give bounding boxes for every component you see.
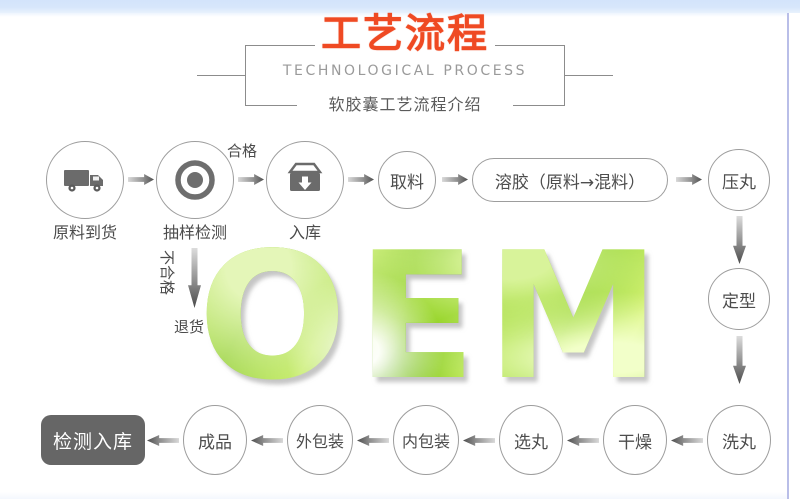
process-flow-infographic: 工艺流程 TECHNOLOGICAL PROCESS 软胶囊工艺流程介绍 OEM: [0, 0, 800, 499]
arrow-outer-packaging-to-finished: [251, 435, 283, 446]
page-title-english: TECHNOLOGICAL PROCESS: [245, 63, 565, 79]
truck-icon: [63, 166, 107, 194]
arrow-finished-to-inspection: [147, 435, 179, 446]
node-pellet-washing[interactable]: 洗丸: [707, 405, 771, 475]
node-material-pickup[interactable]: 取料: [378, 151, 436, 209]
arrow-drying-to-sorting: [567, 435, 599, 446]
arrow-inner-to-outer-packaging: [357, 435, 389, 446]
arrow-gel-to-pressing: [676, 174, 702, 185]
node-outer-packaging[interactable]: 外包装: [287, 405, 353, 475]
node-pellet-pressing[interactable]: 压丸: [708, 149, 770, 211]
node-warehouse-in[interactable]: [266, 141, 344, 219]
label-drying: 干燥: [618, 428, 652, 453]
page-title: 工艺流程: [245, 12, 565, 56]
label-inspection-warehouse: 检测入库: [53, 427, 133, 454]
arrow-warehouse-to-pickup: [348, 174, 374, 185]
label-inner-packaging: 内包装: [402, 428, 450, 452]
label-branch-pass: 合格: [218, 140, 266, 161]
label-pellet-sorting: 选丸: [514, 428, 548, 453]
arrow-pickup-to-gel: [442, 174, 468, 185]
node-inspection-warehouse[interactable]: 检测入库: [41, 415, 145, 465]
label-pellet-pressing: 压丸: [722, 168, 756, 193]
label-warehouse-in: 入库: [271, 219, 339, 243]
label-gel-melting: 溶胶（原料→混料）: [495, 168, 645, 193]
arrow-washing-to-drying: [671, 435, 703, 446]
label-branch-fail: 不合格: [157, 250, 178, 295]
node-shaping[interactable]: 定型: [708, 268, 770, 330]
label-material-pickup: 取料: [390, 168, 424, 193]
arrow-pressing-to-shaping: [733, 216, 746, 264]
node-raw-material-arrival[interactable]: [46, 141, 124, 219]
arrow-sorting-to-inner-packaging: [463, 435, 495, 446]
sampling-inspection-icon: [174, 159, 216, 201]
node-drying[interactable]: 干燥: [603, 405, 667, 475]
label-pellet-washing: 洗丸: [722, 428, 756, 453]
node-finished-product[interactable]: 成品: [183, 405, 247, 475]
label-shaping: 定型: [722, 287, 756, 312]
label-finished-product: 成品: [198, 428, 232, 453]
node-pellet-sorting[interactable]: 选丸: [499, 405, 563, 475]
label-sampling-inspection: 抽样检测: [145, 219, 245, 243]
label-raw-material-arrival: 原料到货: [35, 219, 135, 243]
label-outer-packaging: 外包装: [296, 428, 344, 452]
node-gel-melting[interactable]: 溶胶（原料→混料）: [472, 158, 668, 202]
page-subtitle: 软胶囊工艺流程介绍: [297, 93, 513, 117]
arrow-arrival-to-sampling: [128, 174, 154, 185]
arrow-fail-to-return: [188, 248, 201, 308]
label-return-goods: 退货: [163, 316, 215, 337]
node-inner-packaging[interactable]: 内包装: [393, 405, 459, 475]
inbox-down-arrow-icon: [284, 161, 326, 199]
arrow-sampling-to-warehouse: [238, 174, 264, 185]
arrow-shaping-to-washing: [733, 336, 746, 384]
